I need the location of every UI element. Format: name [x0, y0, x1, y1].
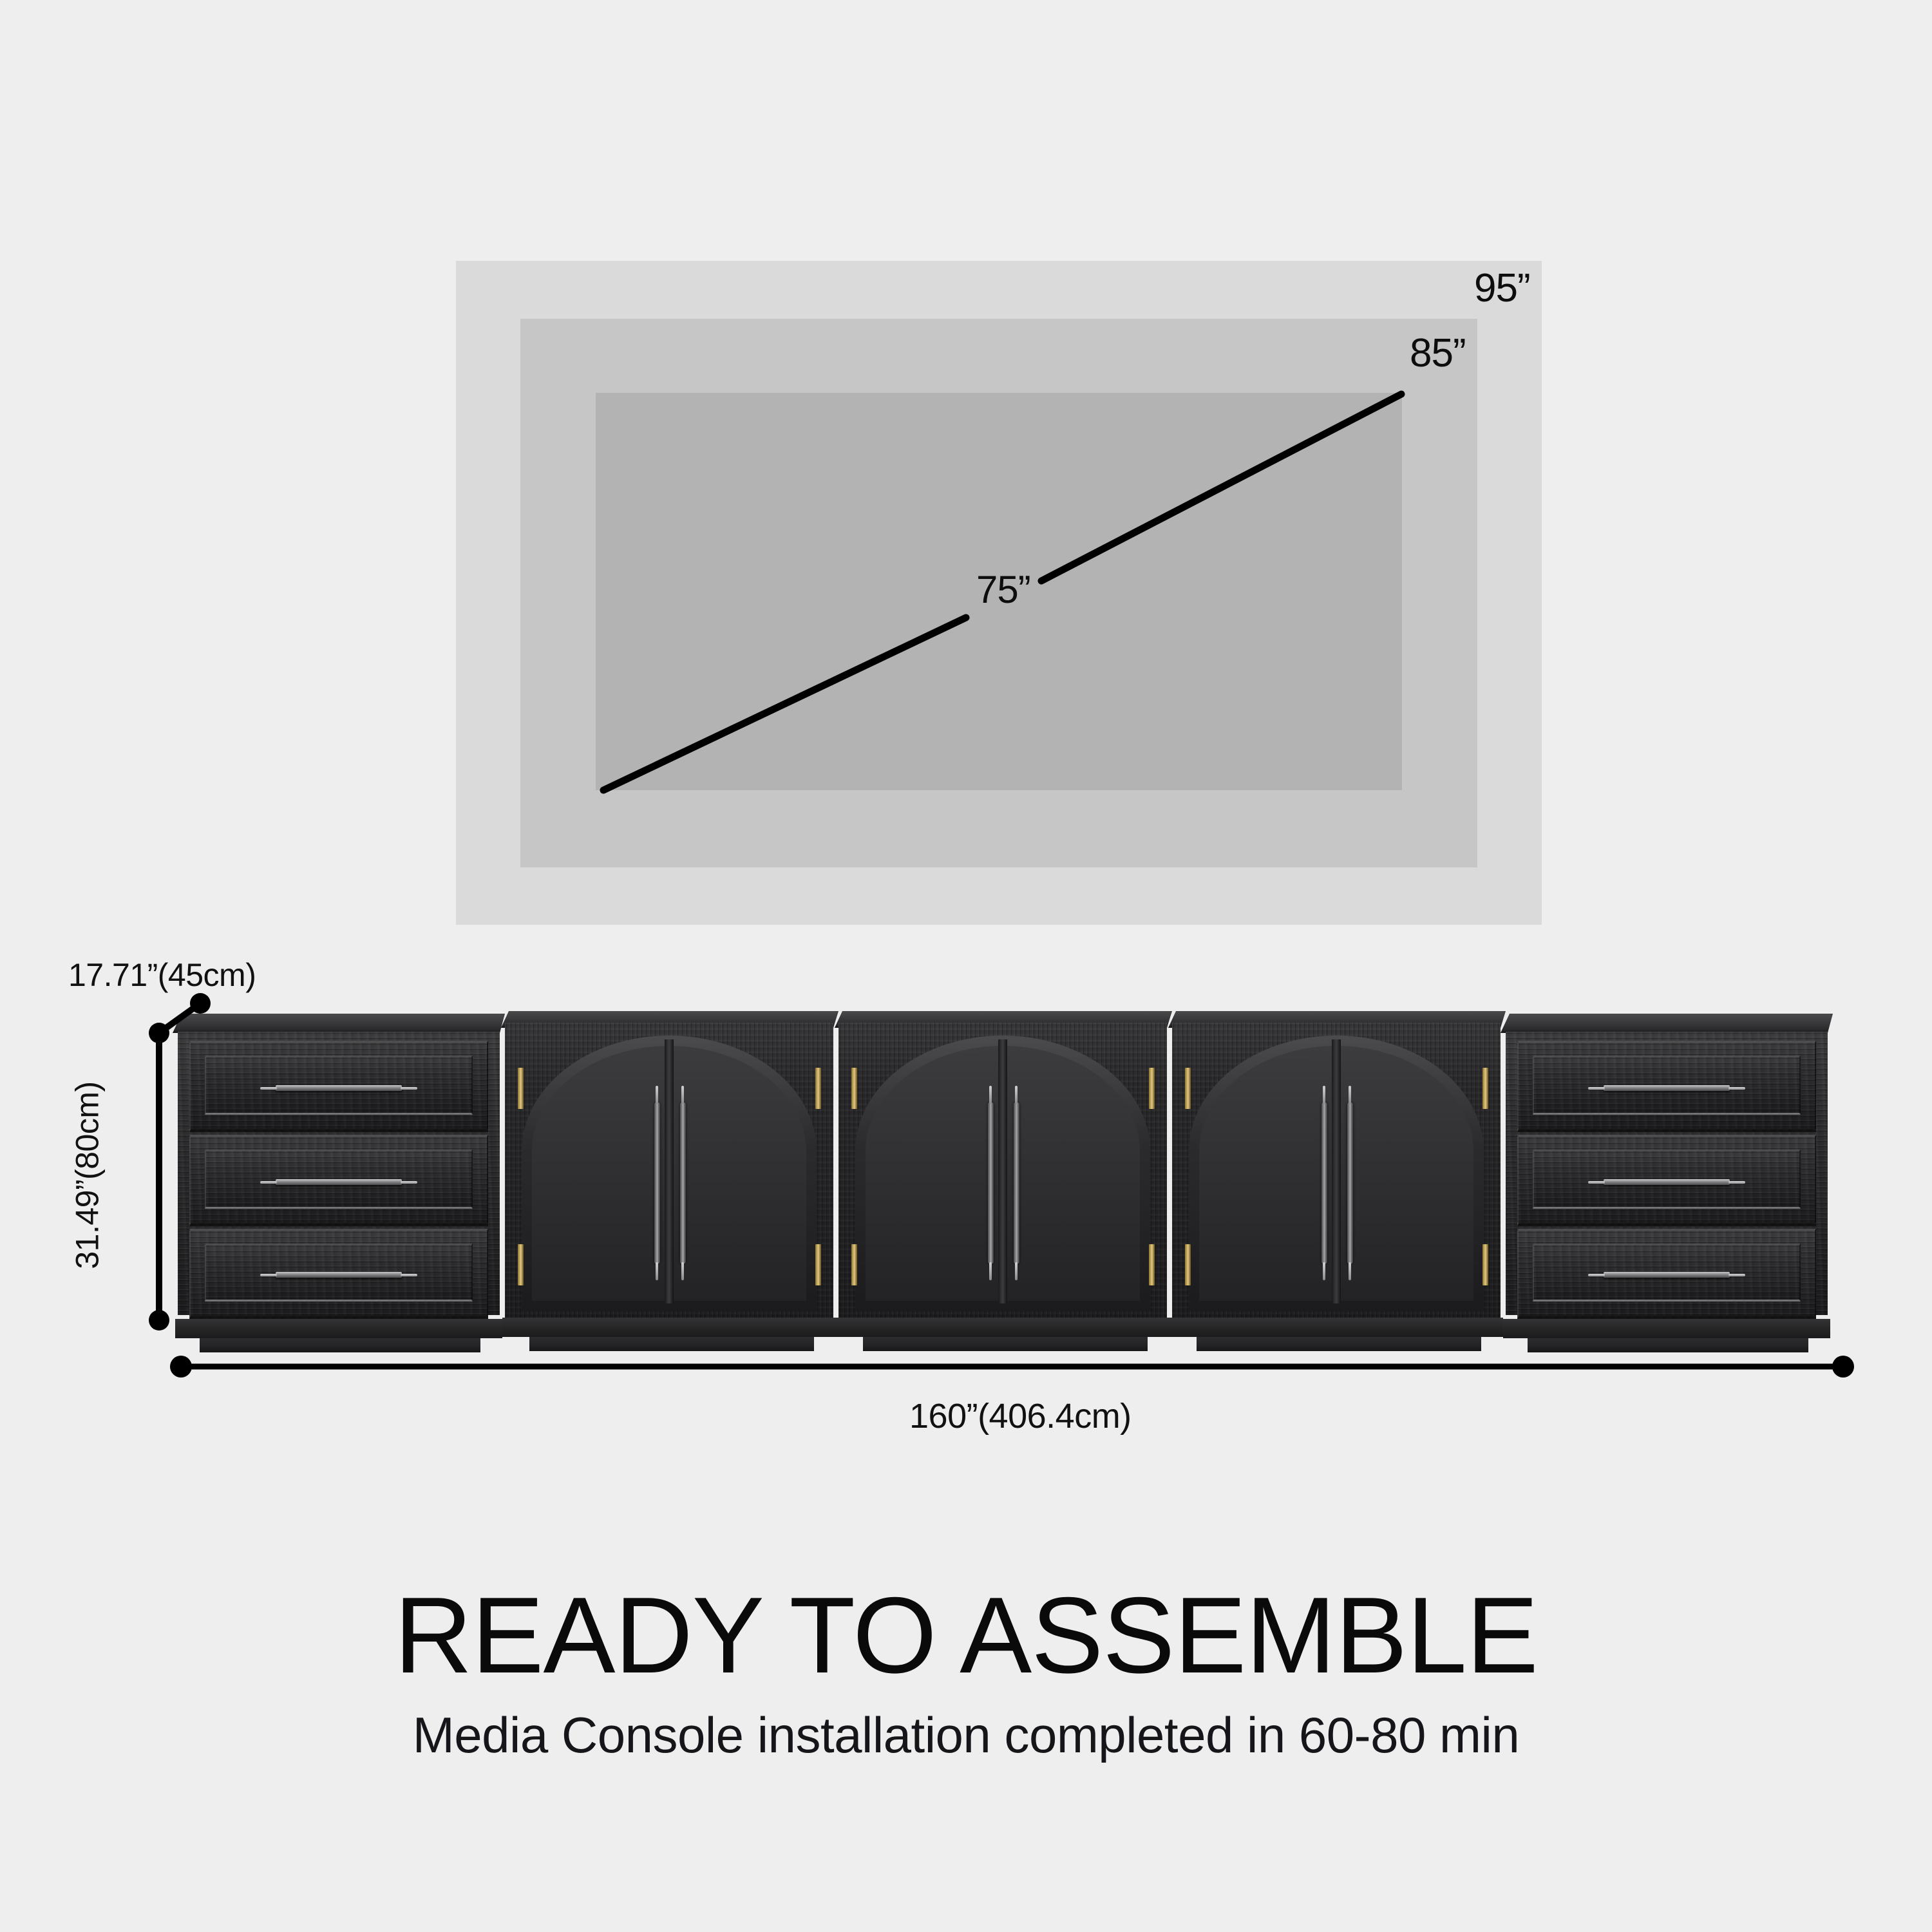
drawer[interactable] [189, 1041, 488, 1132]
module-arched-cabinet-3 [1172, 1020, 1501, 1342]
width-dimension-label: 160”(406.4cm) [909, 1399, 1132, 1434]
console-top-cap [173, 1014, 505, 1033]
plinth [502, 1318, 836, 1337]
brass-hinge [815, 1244, 821, 1285]
drawer-pull-handle[interactable] [1604, 1085, 1730, 1091]
door-meeting-stile [1332, 1039, 1341, 1303]
module-arched-cabinet-1 [505, 1020, 833, 1342]
door-meeting-stile [665, 1039, 674, 1303]
brass-hinge [518, 1068, 524, 1109]
drawer-pull-handle[interactable] [276, 1179, 402, 1185]
module-right-drawer-unit [1506, 1028, 1828, 1343]
brass-hinge [1185, 1244, 1191, 1285]
drawer-pull-handle[interactable] [1604, 1179, 1730, 1185]
cabinet-door-handle-left[interactable] [988, 1103, 994, 1264]
drawer-pull-handle[interactable] [276, 1272, 402, 1278]
cabinet-door-handle-right[interactable] [1014, 1103, 1019, 1264]
brass-hinge [1149, 1068, 1155, 1109]
plinth [836, 1318, 1170, 1337]
drawer[interactable] [1517, 1229, 1816, 1319]
brass-hinge [1482, 1244, 1488, 1285]
drawer[interactable] [1517, 1135, 1816, 1226]
brass-hinge [1482, 1068, 1488, 1109]
plinth-foot [529, 1337, 814, 1351]
drawer-pull-handle[interactable] [1604, 1272, 1730, 1278]
drawer-pull-handle[interactable] [276, 1085, 402, 1091]
brass-hinge [851, 1244, 857, 1285]
height-dimension-label: 31.49”(80cm) [71, 1081, 104, 1269]
plinth-foot [1528, 1338, 1808, 1352]
brass-hinge [1185, 1068, 1191, 1109]
plinth [1170, 1318, 1503, 1337]
cabinet-door-handle-right[interactable] [680, 1103, 686, 1264]
page-subheadline: Media Console installation completed in … [0, 1710, 1932, 1760]
module-left-drawer-unit [178, 1028, 500, 1343]
drawer[interactable] [1517, 1041, 1816, 1132]
brass-hinge [518, 1244, 524, 1285]
drawer[interactable] [189, 1229, 488, 1319]
cabinet-door-handle-left[interactable] [1321, 1103, 1327, 1264]
plinth-foot [200, 1338, 480, 1352]
plinth [1503, 1319, 1830, 1338]
cabinet-door-handle-right[interactable] [1347, 1103, 1353, 1264]
brass-hinge [851, 1068, 857, 1109]
module-arched-cabinet-2 [838, 1020, 1167, 1342]
product-spec-sheet: 95” 85” 75” [0, 0, 1932, 1932]
console-top-cap [1501, 1014, 1833, 1033]
depth-dimension-label: 17.71”(45cm) [68, 959, 256, 991]
brass-hinge [1149, 1244, 1155, 1285]
page-headline: READY TO ASSEMBLE [0, 1581, 1932, 1689]
plinth-foot [863, 1337, 1148, 1351]
plinth [175, 1319, 502, 1338]
door-meeting-stile [998, 1039, 1007, 1303]
cabinet-door-handle-left[interactable] [654, 1103, 660, 1264]
plinth-foot [1197, 1337, 1481, 1351]
drawer[interactable] [189, 1135, 488, 1226]
brass-hinge [815, 1068, 821, 1109]
